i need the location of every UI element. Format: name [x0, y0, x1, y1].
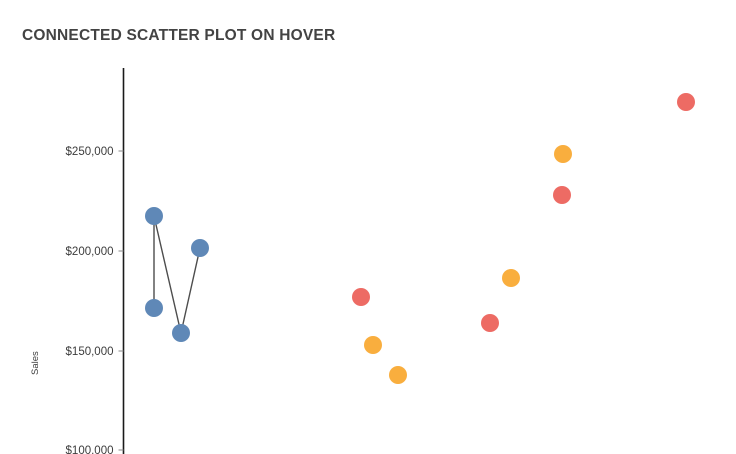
- scatter-point[interactable]: [389, 366, 407, 384]
- scatter-point[interactable]: [502, 269, 520, 287]
- scatter-point[interactable]: [364, 336, 382, 354]
- series-connector-line: [154, 216, 200, 333]
- scatter-point[interactable]: [352, 288, 370, 306]
- y-axis-tick-label: $150,000: [66, 346, 114, 358]
- y-axis-title: Sales: [30, 351, 41, 375]
- scatter-point[interactable]: [172, 324, 190, 342]
- scatter-point[interactable]: [191, 239, 209, 257]
- series-connector-lines: [154, 216, 200, 333]
- chart-container: CONNECTED SCATTER PLOT ON HOVER $250,000…: [0, 0, 736, 454]
- scatter-point[interactable]: [481, 314, 499, 332]
- scatter-point[interactable]: [677, 93, 695, 111]
- y-axis-tick-label: $100,000: [66, 445, 114, 454]
- y-axis-ticks: $250,000$200,000$150,000$100,000: [66, 146, 124, 454]
- scatter-point[interactable]: [554, 145, 572, 163]
- data-points-group[interactable]: [145, 93, 695, 384]
- scatter-point[interactable]: [553, 186, 571, 204]
- scatter-plot-svg[interactable]: $250,000$200,000$150,000$100,000 Sales: [0, 0, 736, 454]
- scatter-point[interactable]: [145, 299, 163, 317]
- y-axis-tick-label: $250,000: [66, 146, 114, 158]
- y-axis-tick-label: $200,000: [66, 246, 114, 258]
- scatter-point[interactable]: [145, 207, 163, 225]
